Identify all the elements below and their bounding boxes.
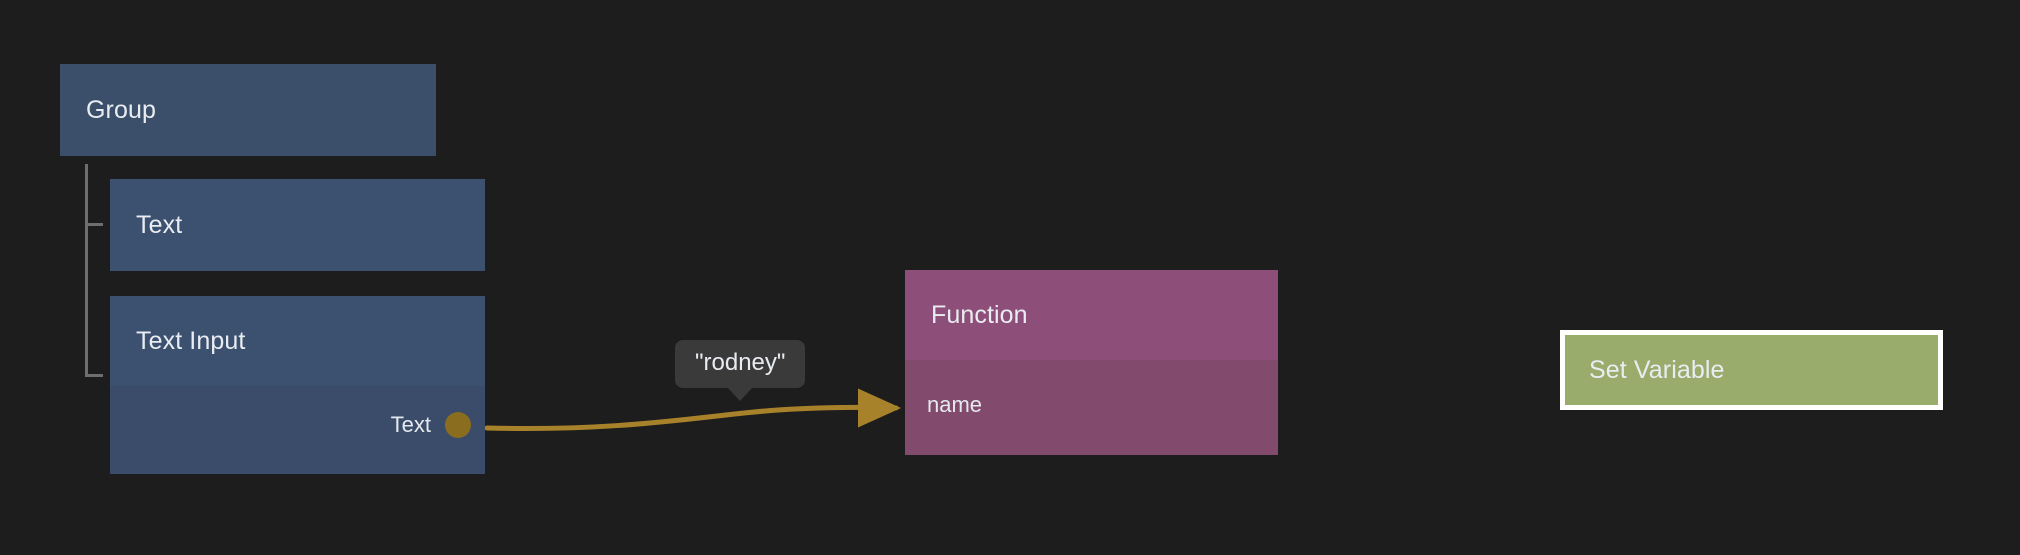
input-port-label-name: name <box>927 392 982 418</box>
node-group[interactable]: Group <box>60 64 436 156</box>
node-text-input-body: Text <box>110 386 485 474</box>
node-text-title: Text <box>136 211 182 240</box>
tree-connector-vertical <box>85 164 88 377</box>
node-function[interactable]: Function name <box>905 270 1278 455</box>
node-text-header[interactable]: Text <box>110 179 485 271</box>
output-port-label-text: Text <box>391 412 431 438</box>
node-set-variable-title: Set Variable <box>1589 356 1725 385</box>
wire-value-tooltip: "rodney" <box>675 340 805 388</box>
node-text[interactable]: Text <box>110 179 485 271</box>
node-function-header[interactable]: Function <box>905 270 1278 360</box>
input-port-row-name[interactable]: name <box>905 390 982 420</box>
node-text-input-header[interactable]: Text Input <box>110 296 485 386</box>
node-text-input-title: Text Input <box>136 327 245 356</box>
tree-connector-stub-text <box>85 223 103 226</box>
node-graph-canvas[interactable]: Group Text Text Input Text Function <box>0 0 2020 555</box>
node-text-input[interactable]: Text Input Text <box>110 296 485 474</box>
tree-connector-stub-textinput <box>85 374 103 377</box>
output-port-row-text[interactable]: Text <box>391 410 485 440</box>
node-group-title: Group <box>86 96 156 125</box>
node-set-variable[interactable]: Set Variable <box>1560 330 1943 410</box>
tooltip-tail-icon <box>727 387 753 401</box>
node-group-header[interactable]: Group <box>60 64 436 156</box>
output-port-dot-text[interactable] <box>445 410 485 440</box>
connection-wire-text-to-name[interactable] <box>487 407 896 428</box>
wire-value-tooltip-text: "rodney" <box>695 349 785 376</box>
node-function-title: Function <box>931 301 1028 330</box>
node-function-body: name <box>905 360 1278 455</box>
node-set-variable-header[interactable]: Set Variable <box>1565 335 1938 405</box>
